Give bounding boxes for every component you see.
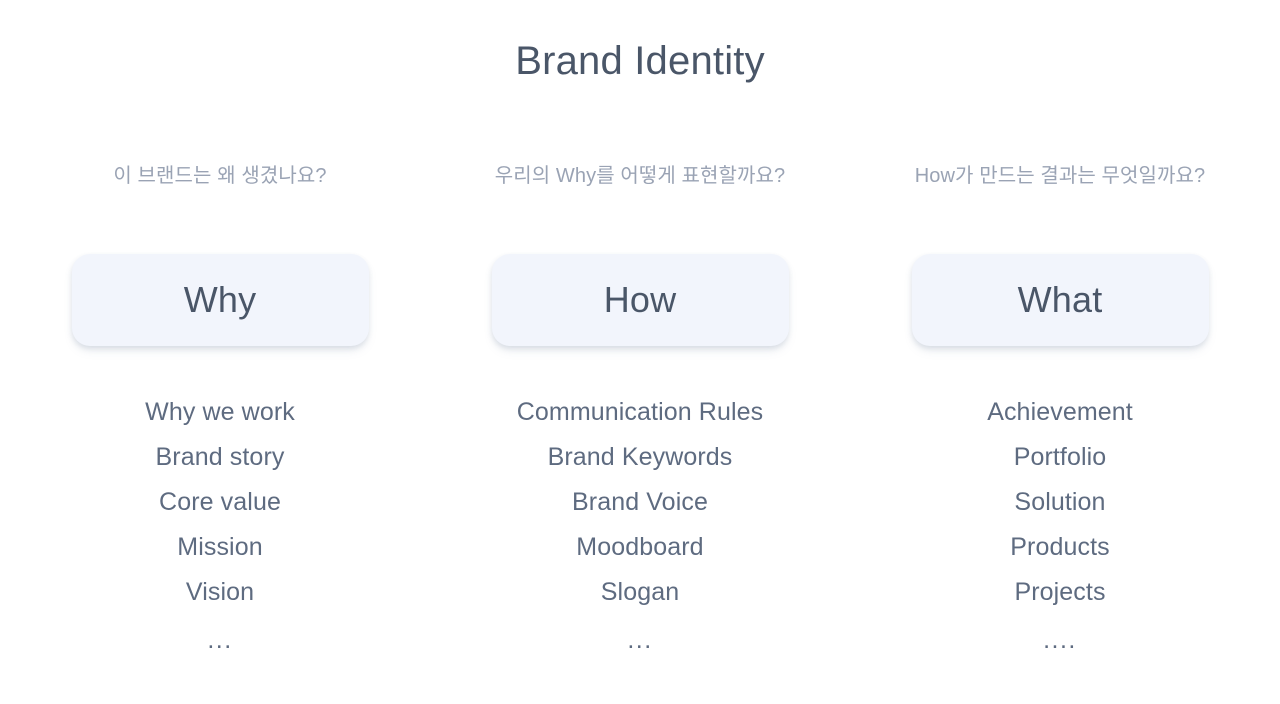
list-item: Brand Keywords (430, 435, 850, 480)
list-item: Why we work (10, 390, 430, 435)
list-item: Moodboard (430, 525, 850, 570)
list-item: Portfolio (850, 435, 1270, 480)
list-item: Core value (10, 480, 430, 525)
list-item: Vision (10, 570, 430, 615)
card-what[interactable]: What (912, 254, 1209, 346)
list-item: Communication Rules (430, 390, 850, 435)
card-label-how: How (604, 282, 677, 318)
list-item: Solution (850, 480, 1270, 525)
card-how[interactable]: How (492, 254, 789, 346)
card-label-what: What (1018, 282, 1103, 318)
item-list-how: Communication Rules Brand Keywords Brand… (430, 390, 850, 663)
list-item: Slogan (430, 570, 850, 615)
card-wrap-how: How (430, 254, 850, 346)
list-item: Projects (850, 570, 1270, 615)
list-ellipsis: .... (850, 615, 1270, 663)
column-what: How가 만드는 결과는 무엇일까요? What Achievement Por… (850, 160, 1270, 663)
card-wrap-what: What (850, 254, 1270, 346)
list-ellipsis: ... (10, 615, 430, 663)
card-label-why: Why (184, 282, 257, 318)
brand-identity-diagram: Brand Identity 이 브랜드는 왜 생겼나요? Why Why we… (0, 0, 1280, 704)
list-item: Brand Voice (430, 480, 850, 525)
question-how: 우리의 Why를 어떻게 표현할까요? (495, 160, 786, 192)
column-how: 우리의 Why를 어떻게 표현할까요? How Communication Ru… (430, 160, 850, 663)
list-item: Mission (10, 525, 430, 570)
item-list-why: Why we work Brand story Core value Missi… (10, 390, 430, 663)
item-list-what: Achievement Portfolio Solution Products … (850, 390, 1270, 663)
question-why: 이 브랜드는 왜 생겼나요? (113, 160, 326, 192)
column-why: 이 브랜드는 왜 생겼나요? Why Why we work Brand sto… (10, 160, 430, 663)
page-title: Brand Identity (0, 36, 1280, 86)
list-item: Achievement (850, 390, 1270, 435)
card-why[interactable]: Why (72, 254, 369, 346)
columns-container: 이 브랜드는 왜 생겼나요? Why Why we work Brand sto… (0, 160, 1280, 663)
question-what: How가 만드는 결과는 무엇일까요? (915, 160, 1206, 192)
list-ellipsis: ... (430, 615, 850, 663)
list-item: Brand story (10, 435, 430, 480)
list-item: Products (850, 525, 1270, 570)
card-wrap-why: Why (10, 254, 430, 346)
